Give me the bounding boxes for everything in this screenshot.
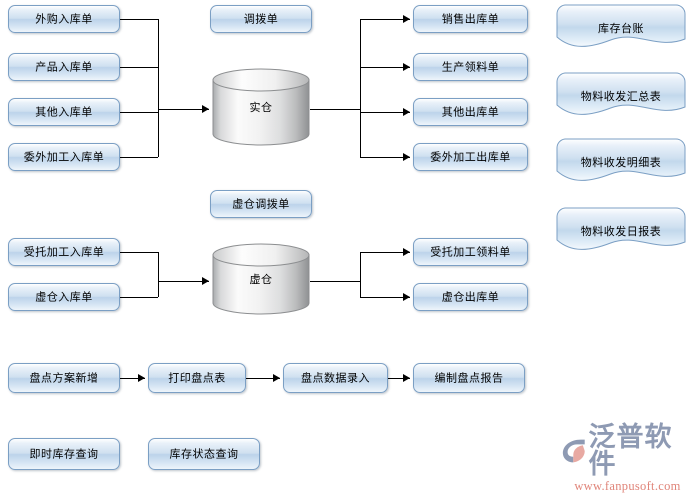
report-label: 库存台账 [598,20,644,36]
node-label: 编制盘点报告 [435,372,504,383]
node-label: 其他入库单 [35,106,93,117]
node-label: 产品入库单 [35,61,93,72]
virtual-input-node-1[interactable]: 受托加工入库单 [8,238,120,266]
logo-url-text: www.fanpusoft.com [574,479,680,494]
node-label: 虚仓调拨单 [232,198,290,209]
node-label: 打印盘点表 [168,372,226,383]
arrow-to-virtual-output-2 [403,293,410,301]
arrow-to-virtual-store [202,277,209,285]
arrow-stocktaking-1 [138,374,145,382]
virtual-store-cylinder[interactable]: 虚仓 [212,243,310,315]
node-label: 外购入库单 [35,13,93,24]
virtual-input-node-2[interactable]: 虚仓入库单 [8,283,120,311]
node-label: 生产领料单 [442,61,500,72]
node-label: 虚仓入库单 [35,291,93,302]
input-stub-4 [120,157,158,158]
report-node-1[interactable]: 库存台账 [556,4,686,52]
arrow-to-output-1 [403,15,410,23]
node-label: 销售出库单 [442,13,500,24]
node-label: 其他出库单 [442,106,500,117]
node-label: 虚仓出库单 [442,291,500,302]
node-label: 委外加工出库单 [430,151,511,162]
stocktaking-node-4[interactable]: 编制盘点报告 [413,363,525,393]
virtual-output-trunk [360,252,361,297]
report-node-2[interactable]: 物料收发汇总表 [556,72,686,120]
output-node-2[interactable]: 生产领料单 [413,53,528,81]
output-node-3[interactable]: 其他出库单 [413,98,528,126]
virtual-output-node-1[interactable]: 受托加工领料单 [413,238,528,266]
report-node-4[interactable]: 物料收发日报表 [556,207,686,255]
query-node-1[interactable]: 即时库存查询 [8,438,120,470]
node-label: 受托加工领料单 [430,246,511,257]
input-node-4[interactable]: 委外加工入库单 [8,143,120,171]
input-trunk [158,19,159,157]
flowchart-canvas: 外购入库单产品入库单其他入库单委外加工入库单调拨单实仓销售出库单生产领料单其他出… [0,0,695,479]
report-label: 物料收发汇总表 [581,88,662,104]
query-node-2[interactable]: 库存状态查询 [148,438,260,470]
store-label: 实仓 [212,99,310,115]
stocktaking-node-1[interactable]: 盘点方案新增 [8,363,120,393]
node-label: 盘点方案新增 [30,372,99,383]
virtual-output-node-2[interactable]: 虚仓出库单 [413,283,528,311]
node-label: 盘点数据录入 [301,372,370,383]
arrow-to-output-4 [403,153,410,161]
logo-brand-text: 泛普软件 [589,424,695,478]
input-stub-3 [120,112,158,113]
virtual-input-stub-1 [120,252,158,253]
report-node-3[interactable]: 物料收发明细表 [556,138,686,186]
node-label: 库存状态查询 [170,448,239,459]
arrow-to-output-2 [403,63,410,71]
input-stub-1 [120,19,158,20]
stocktaking-node-2[interactable]: 打印盘点表 [148,363,246,393]
arrow-to-real-store [202,105,209,113]
report-label: 物料收发日报表 [581,223,662,239]
arrow-stocktaking-2 [273,374,280,382]
output-trunk [360,19,361,157]
store-to-outputs [310,109,360,110]
store-label: 虚仓 [212,271,310,287]
node-label: 委外加工入库单 [24,151,105,162]
node-label: 即时库存查询 [30,448,99,459]
input-node-1[interactable]: 外购入库单 [8,5,120,33]
report-label: 物料收发明细表 [581,154,662,170]
input-node-3[interactable]: 其他入库单 [8,98,120,126]
virtual-input-trunk [158,252,159,297]
output-node-1[interactable]: 销售出库单 [413,5,528,33]
arrow-to-output-3 [403,108,410,116]
fanpu-logo: 泛普软件www.fanpusoft.com [560,424,695,494]
output-node-4[interactable]: 委外加工出库单 [413,143,528,171]
input-node-2[interactable]: 产品入库单 [8,53,120,81]
node-label: 调拨单 [244,13,279,24]
virtual-transfer-doc-node[interactable]: 虚仓调拨单 [210,190,312,218]
virtual-input-stub-2 [120,297,158,298]
virtual-store-to-outputs [310,281,360,282]
transfer-doc-node[interactable]: 调拨单 [210,5,312,33]
arrow-stocktaking-3 [403,374,410,382]
arrow-to-virtual-output-1 [403,248,410,256]
node-label: 受托加工入库单 [24,246,105,257]
real-store-cylinder[interactable]: 实仓 [212,68,310,146]
input-stub-2 [120,67,158,68]
stocktaking-node-3[interactable]: 盘点数据录入 [283,363,388,393]
fanpu-f-mark-icon [560,436,589,466]
